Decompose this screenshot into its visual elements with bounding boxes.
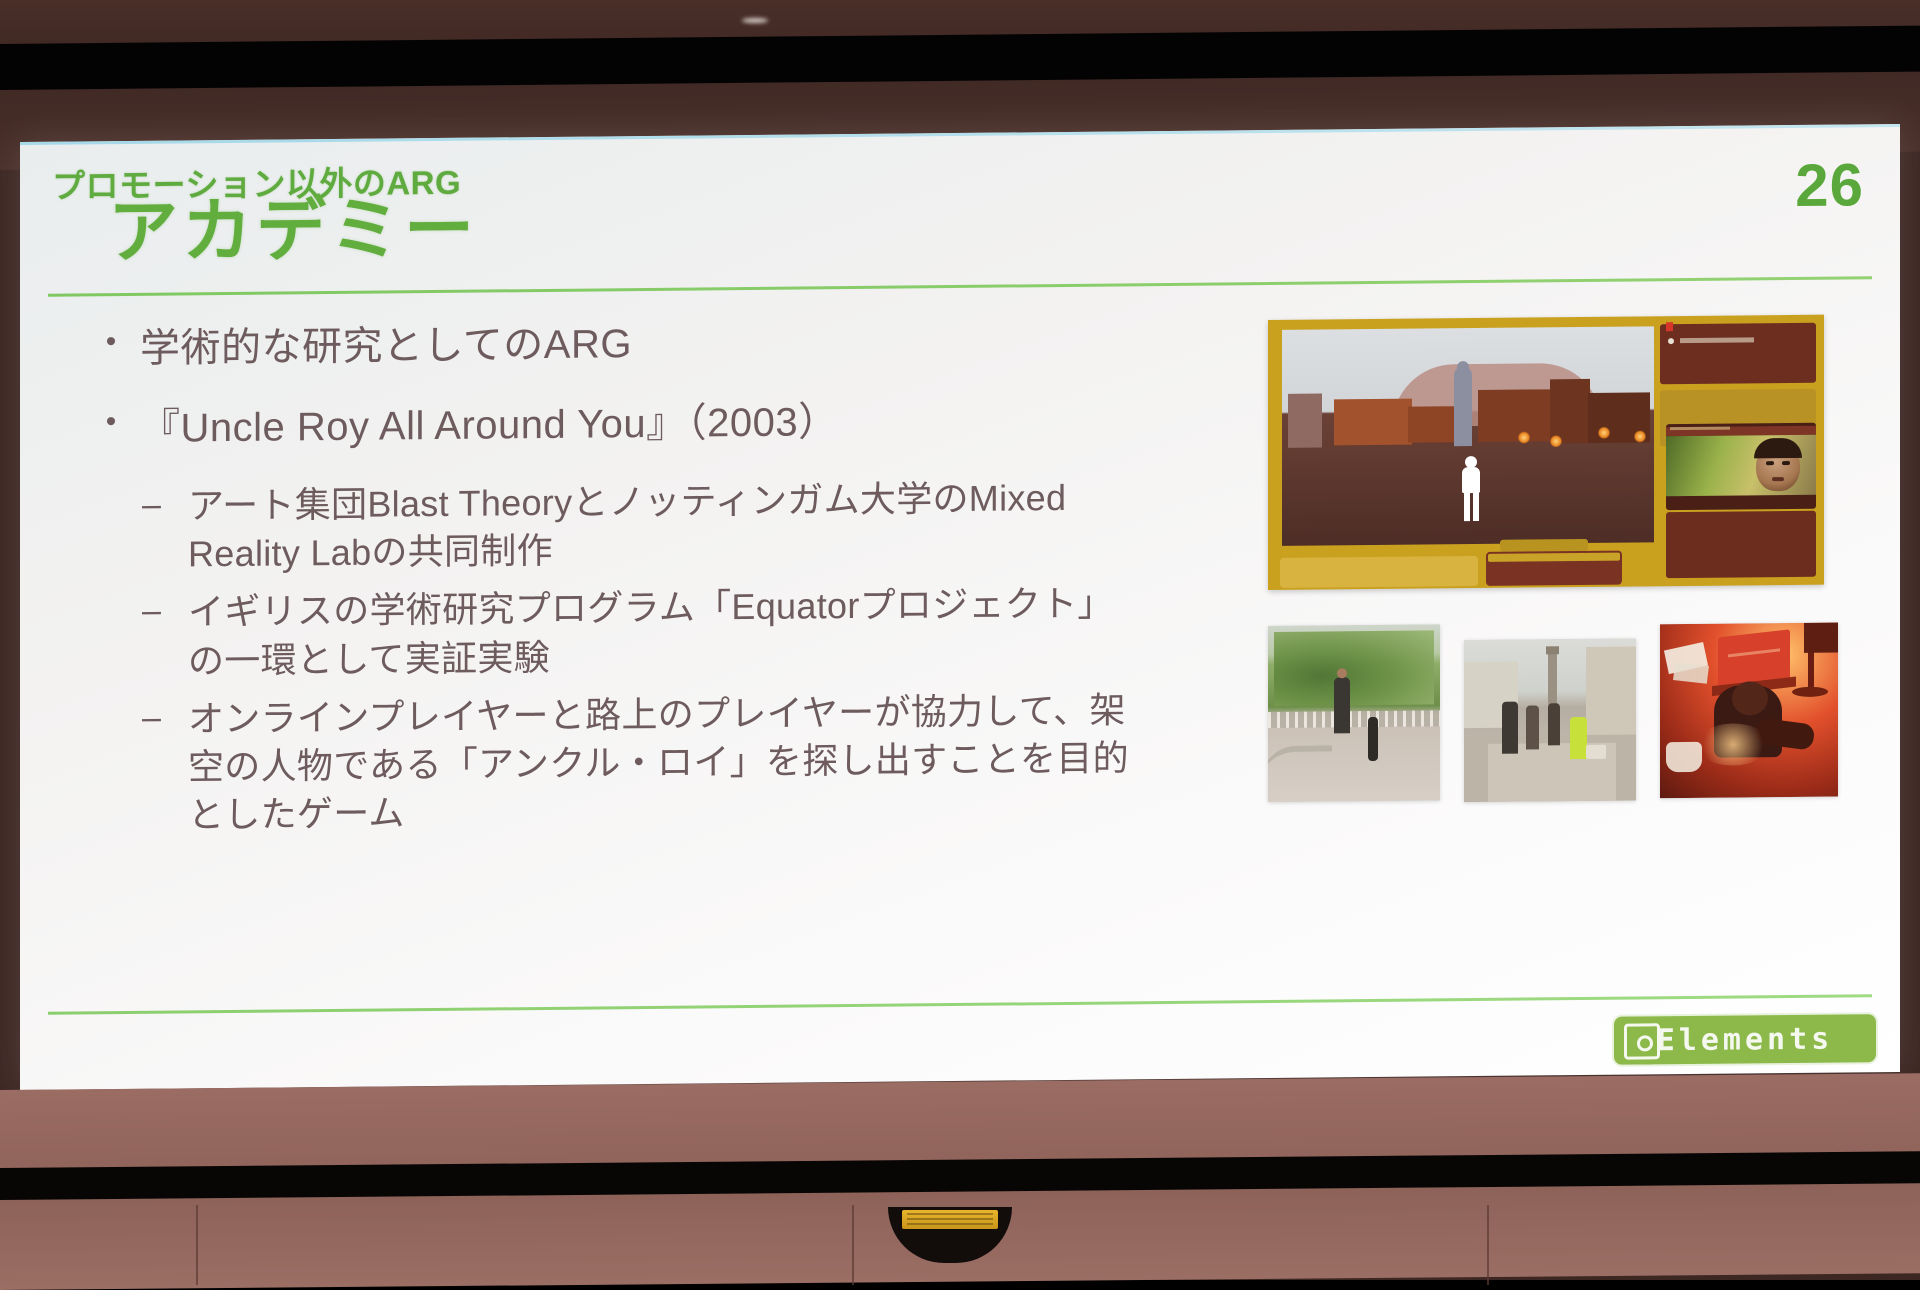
webcam-video-feed <box>1666 435 1816 496</box>
person-eye-right <box>1782 461 1790 465</box>
operator-head <box>1732 681 1768 715</box>
pedestrian <box>1548 703 1560 745</box>
building-block <box>1550 379 1590 443</box>
photo-content <box>1268 624 1440 802</box>
street-lamp-glow <box>1634 430 1646 442</box>
sub-bullet-item: – イギリスの学術研究プログラム「Equatorプロジェクト」の一環として実証実… <box>142 579 1212 686</box>
paper-sheet <box>1673 662 1709 684</box>
status-led <box>1666 322 1673 331</box>
player-status-panel <box>1660 323 1816 384</box>
street-lamp-glow <box>1518 432 1530 444</box>
slide-body: • 学術的な研究としてのARG • 『Uncle Roy All Around … <box>82 313 1212 851</box>
player-info-panel <box>1666 511 1816 578</box>
photo-content <box>1464 638 1636 802</box>
message-header-bar <box>1488 553 1620 562</box>
wall-mirror <box>1804 623 1838 653</box>
sub-bullet-marker: – <box>142 589 188 635</box>
building-block <box>1334 399 1412 446</box>
sub-bullet-marker: – <box>142 695 188 741</box>
sub-bullet-list: – アート集団Blast Theoryとノッティンガム大学のMixed Real… <box>142 473 1212 841</box>
cabinet-seam <box>852 1205 854 1285</box>
avatar-body <box>1462 467 1480 493</box>
bullet-marker: • <box>82 403 140 441</box>
pedestrian <box>1502 702 1518 754</box>
person-face <box>1756 441 1800 491</box>
presentation-slide: プロモーション以外のARG アカデミー 26 • 学術的な研究としてのARG •… <box>20 124 1900 1090</box>
message-compose-panel <box>1486 551 1622 586</box>
game-3d-viewport <box>1282 326 1654 546</box>
bullet-text: 『Uncle Roy All Around You』（2003） <box>140 396 839 455</box>
shopping-bag <box>1586 745 1606 759</box>
webcam-video-panel <box>1666 423 1816 510</box>
building-block <box>1478 389 1550 442</box>
minimap-tab <box>1500 539 1588 552</box>
logo-text: Elements <box>1657 1021 1834 1058</box>
statue-figure <box>1454 366 1472 446</box>
cabinet-seam <box>196 1205 198 1285</box>
elements-logo: Elements <box>1612 1012 1878 1067</box>
avatar-leg-left <box>1464 491 1470 521</box>
photo-strip <box>1268 611 1838 812</box>
footer-divider-rule <box>48 994 1872 1015</box>
lamp-base <box>1792 687 1828 697</box>
warm-light-glow <box>1696 723 1770 766</box>
pedestrian <box>1526 705 1539 749</box>
logo-e-mark-icon <box>1624 1023 1660 1059</box>
ceiling-light-reflection <box>742 18 768 23</box>
slide-number: 26 <box>1795 150 1864 220</box>
uncle-roy-online-client-screenshot <box>1268 315 1824 590</box>
cabinet-seam <box>1487 1205 1489 1285</box>
title-divider-rule <box>48 276 1872 297</box>
status-label-blur <box>1680 337 1754 343</box>
bullet-item: • 『Uncle Roy All Around You』（2003） <box>82 393 1212 456</box>
sub-bullet-marker: – <box>142 482 188 528</box>
person-eye-left <box>1766 461 1774 465</box>
street-player-by-railing-photo <box>1268 624 1440 802</box>
bullet-marker: • <box>82 323 140 361</box>
player-avatar <box>1458 456 1484 522</box>
statue-head <box>1457 361 1469 373</box>
sub-bullet-item: – アート集団Blast Theoryとノッティンガム大学のMixed Real… <box>142 473 1212 580</box>
person-hair <box>1754 438 1802 458</box>
sub-bullet-text: イギリスの学術研究プログラム「Equatorプロジェクト」の一環として実証実験 <box>188 580 1138 686</box>
media-column <box>1268 314 1848 590</box>
building-block <box>1288 394 1322 448</box>
white-railing <box>1268 710 1440 728</box>
slide-title: アカデミー <box>108 194 478 268</box>
street-players-walking-photo <box>1464 638 1636 802</box>
bullet-item: • 学術的な研究としてのARG <box>82 313 1212 376</box>
bullet-text: 学術的な研究としてのARG <box>140 318 632 375</box>
photo-content <box>1660 623 1838 799</box>
indoor-laptop-operator-photo <box>1660 623 1838 799</box>
street-lamp-glow <box>1550 435 1562 447</box>
status-dot <box>1668 338 1674 344</box>
person-mouth <box>1772 477 1784 481</box>
warning-label <box>902 1210 998 1229</box>
sub-bullet-text: アート集団Blast Theoryとノッティンガム大学のMixed Realit… <box>188 473 1138 579</box>
tree-foliage <box>1274 630 1434 706</box>
sub-bullet-item: – オンラインプレイヤーと路上のプレイヤーが協力して、架空の人物である「アンクル… <box>142 685 1212 840</box>
pedestrian-hi-vis <box>1570 717 1587 759</box>
avatar-leg-right <box>1473 491 1479 521</box>
curved-curb <box>1268 745 1332 802</box>
projection-room: プロモーション以外のARG アカデミー 26 • 学術的な研究としてのARG •… <box>0 0 1920 1280</box>
standing-person <box>1334 677 1350 733</box>
street-lamp-glow <box>1598 427 1610 439</box>
sub-bullet-text: オンラインプレイヤーと路上のプレイヤーが協力して、架空の人物である「アンクル・ロ… <box>188 686 1138 840</box>
chat-log-panel <box>1280 556 1478 588</box>
street-bollard <box>1368 717 1378 761</box>
